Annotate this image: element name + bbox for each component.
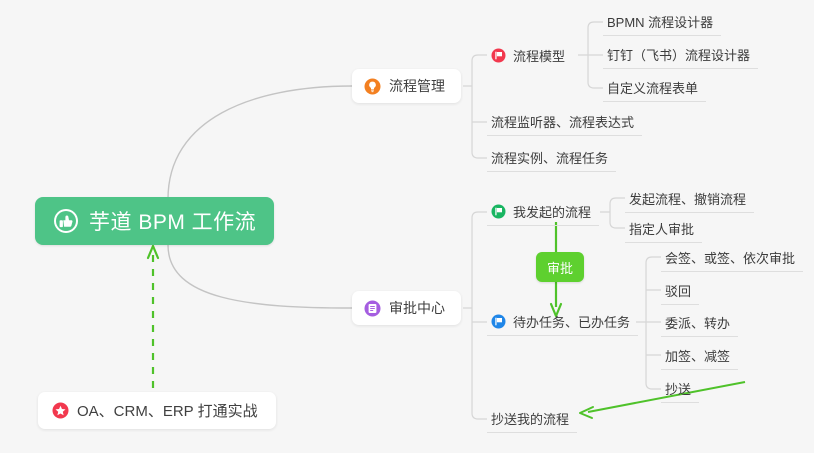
root-node[interactable]: 芋道 BPM 工作流 xyxy=(35,197,274,245)
node-countersign[interactable]: 会签、或签、依次审批 xyxy=(661,244,803,272)
node-label: 抄送我的流程 xyxy=(491,409,569,428)
node-label: 待办任务、已办任务 xyxy=(513,312,630,331)
branch-label: 流程管理 xyxy=(389,76,445,96)
mindmap-canvas: 芋道 BPM 工作流 OA、CRM、ERP 打通实战 流程管理 xyxy=(0,0,814,453)
node-my-started-process[interactable]: 我发起的流程 xyxy=(487,198,599,226)
approval-badge[interactable]: 审批 xyxy=(536,252,584,282)
wire-model-bracket xyxy=(588,22,603,88)
node-label: 流程监听器、流程表达式 xyxy=(491,112,634,131)
branch-process-management[interactable]: 流程管理 xyxy=(352,69,461,103)
lightbulb-icon xyxy=(364,78,381,95)
node-label: 我发起的流程 xyxy=(513,202,591,221)
flag-blue-icon xyxy=(491,314,506,329)
thumbs-up-icon xyxy=(53,208,79,234)
node-label: 抄送 xyxy=(665,379,691,398)
node-label: 加签、减签 xyxy=(665,346,730,365)
wire-root-to-process-management xyxy=(168,86,352,199)
node-label: 流程实例、流程任务 xyxy=(491,148,608,167)
approval-icon xyxy=(364,300,381,317)
node-add-remove-sign[interactable]: 加签、减签 xyxy=(661,342,738,370)
node-process-listener[interactable]: 流程监听器、流程表达式 xyxy=(487,108,642,136)
node-start-cancel-process[interactable]: 发起流程、撤销流程 xyxy=(625,185,754,213)
wire-ac-bracket xyxy=(472,212,487,419)
node-process-instance[interactable]: 流程实例、流程任务 xyxy=(487,144,616,172)
node-process-model[interactable]: 流程模型 xyxy=(487,41,573,69)
node-label: 钉钉（飞书）流程设计器 xyxy=(607,45,750,64)
footnote-label: OA、CRM、ERP 打通实战 xyxy=(77,400,258,421)
node-reject[interactable]: 驳回 xyxy=(661,277,699,305)
node-label: 发起流程、撤销流程 xyxy=(629,189,746,208)
node-label: 指定人审批 xyxy=(629,219,694,238)
node-custom-form[interactable]: 自定义流程表单 xyxy=(603,74,706,102)
node-delegate-transfer[interactable]: 委派、转办 xyxy=(661,309,738,337)
node-label: 会签、或签、依次审批 xyxy=(665,248,795,267)
node-todo-done-tasks[interactable]: 待办任务、已办任务 xyxy=(487,308,638,336)
branch-approval-center[interactable]: 审批中心 xyxy=(352,291,461,325)
branch-label: 审批中心 xyxy=(389,298,445,318)
node-cc-to-me[interactable]: 抄送我的流程 xyxy=(487,405,577,433)
star-icon xyxy=(52,402,69,419)
node-label: 流程模型 xyxy=(513,46,565,65)
node-label: 驳回 xyxy=(665,281,691,300)
node-label: BPMN 流程设计器 xyxy=(607,12,713,31)
flag-green-icon xyxy=(491,204,506,219)
wire-footnote-to-root xyxy=(148,246,158,388)
flag-red-icon xyxy=(491,48,506,63)
node-cc[interactable]: 抄送 xyxy=(661,375,699,403)
node-label: 自定义流程表单 xyxy=(607,78,698,97)
node-label: 委派、转办 xyxy=(665,313,730,332)
wire-pm-bracket xyxy=(472,55,487,158)
node-dingtalk-designer[interactable]: 钉钉（飞书）流程设计器 xyxy=(603,41,758,69)
root-label: 芋道 BPM 工作流 xyxy=(89,206,256,236)
footnote-node[interactable]: OA、CRM、ERP 打通实战 xyxy=(38,392,276,429)
wire-todo-bracket xyxy=(646,257,661,389)
wire-started-bracket xyxy=(610,198,625,228)
node-bpmn-designer[interactable]: BPMN 流程设计器 xyxy=(603,8,721,36)
wire-root-to-approval-center xyxy=(168,245,352,308)
approval-badge-label: 审批 xyxy=(547,258,573,277)
node-assignee-approval[interactable]: 指定人审批 xyxy=(625,215,702,243)
